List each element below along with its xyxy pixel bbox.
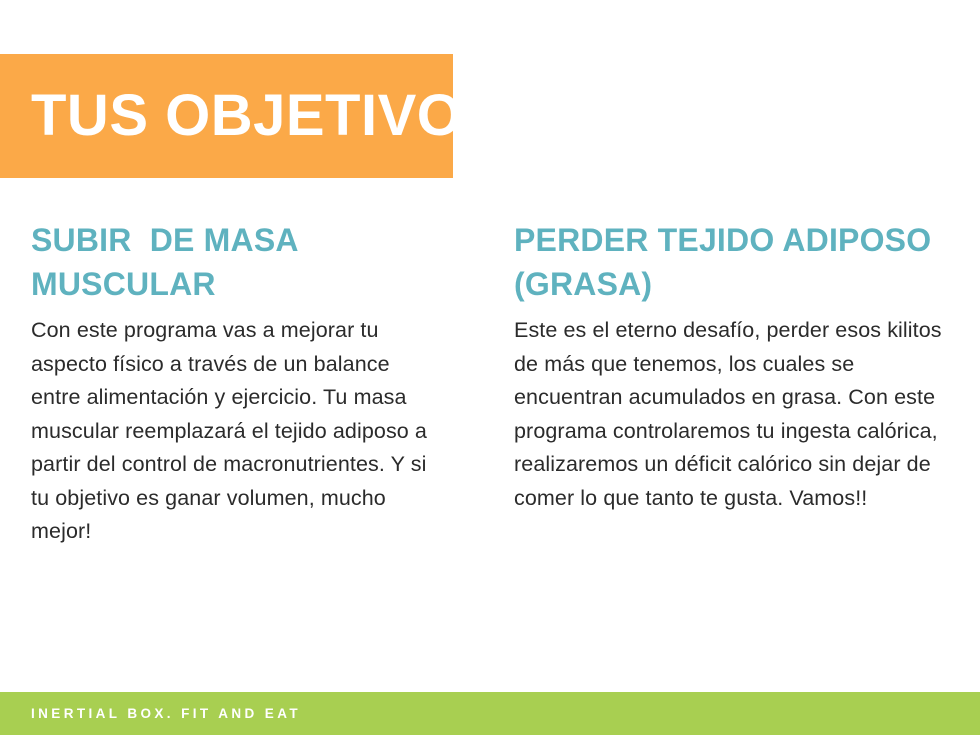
content-columns: SUBIR DE MASA MUSCULAR Con este programa… (0, 218, 980, 549)
title-banner: TUS OBJETIVOS (0, 54, 453, 178)
column-subir-masa-muscular: SUBIR DE MASA MUSCULAR Con este programa… (0, 218, 490, 549)
footer-bar: INERTIAL BOX. FIT AND EAT (0, 692, 980, 735)
column-heading-left: SUBIR DE MASA MUSCULAR (31, 218, 445, 306)
column-body-left: Con este programa vas a mejorar tu aspec… (31, 314, 445, 549)
footer-brand-text: INERTIAL BOX. FIT AND EAT (0, 706, 301, 721)
slide-canvas: TUS OBJETIVOS SUBIR DE MASA MUSCULAR Con… (0, 0, 980, 735)
column-body-right: Este es el eterno desafío, perder esos k… (514, 314, 945, 515)
column-heading-right: PERDER TEJIDO ADIPOSO (GRASA) (514, 218, 945, 306)
page-title: TUS OBJETIVOS (0, 87, 502, 145)
column-perder-tejido-adiposo: PERDER TEJIDO ADIPOSO (GRASA) Este es el… (490, 218, 980, 549)
